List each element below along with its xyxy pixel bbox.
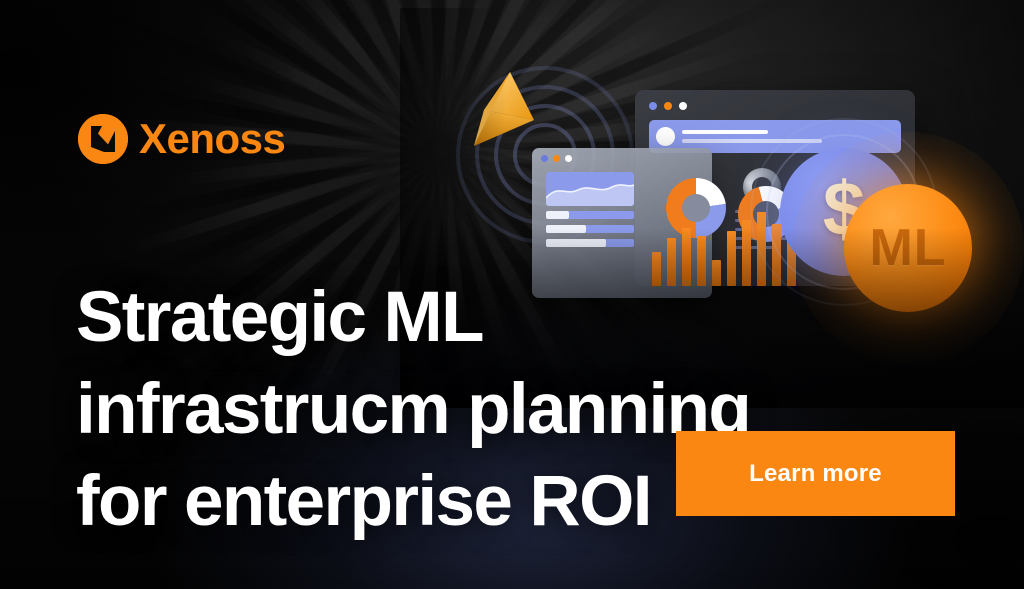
progress-bar — [546, 239, 634, 247]
card-traffic-lights — [541, 155, 572, 162]
ml-label: ML — [869, 222, 946, 274]
headline-line-1: Strategic ML — [76, 272, 796, 364]
progress-bar — [546, 211, 634, 219]
progress-bar-list — [546, 211, 634, 253]
brand-name: Xenoss — [139, 118, 285, 160]
progress-bar — [546, 225, 634, 233]
xenoss-x-mark-icon — [78, 114, 128, 164]
area-chart-icon — [546, 172, 634, 206]
brand-logo[interactable]: Xenoss — [78, 114, 285, 164]
learn-more-button[interactable]: Learn more — [676, 431, 955, 516]
window-traffic-lights — [649, 102, 687, 110]
marketing-banner: $ ML Xenoss Strategic ML infrastrucm pla… — [0, 0, 1024, 589]
ml-sphere-icon: ML — [844, 184, 972, 312]
